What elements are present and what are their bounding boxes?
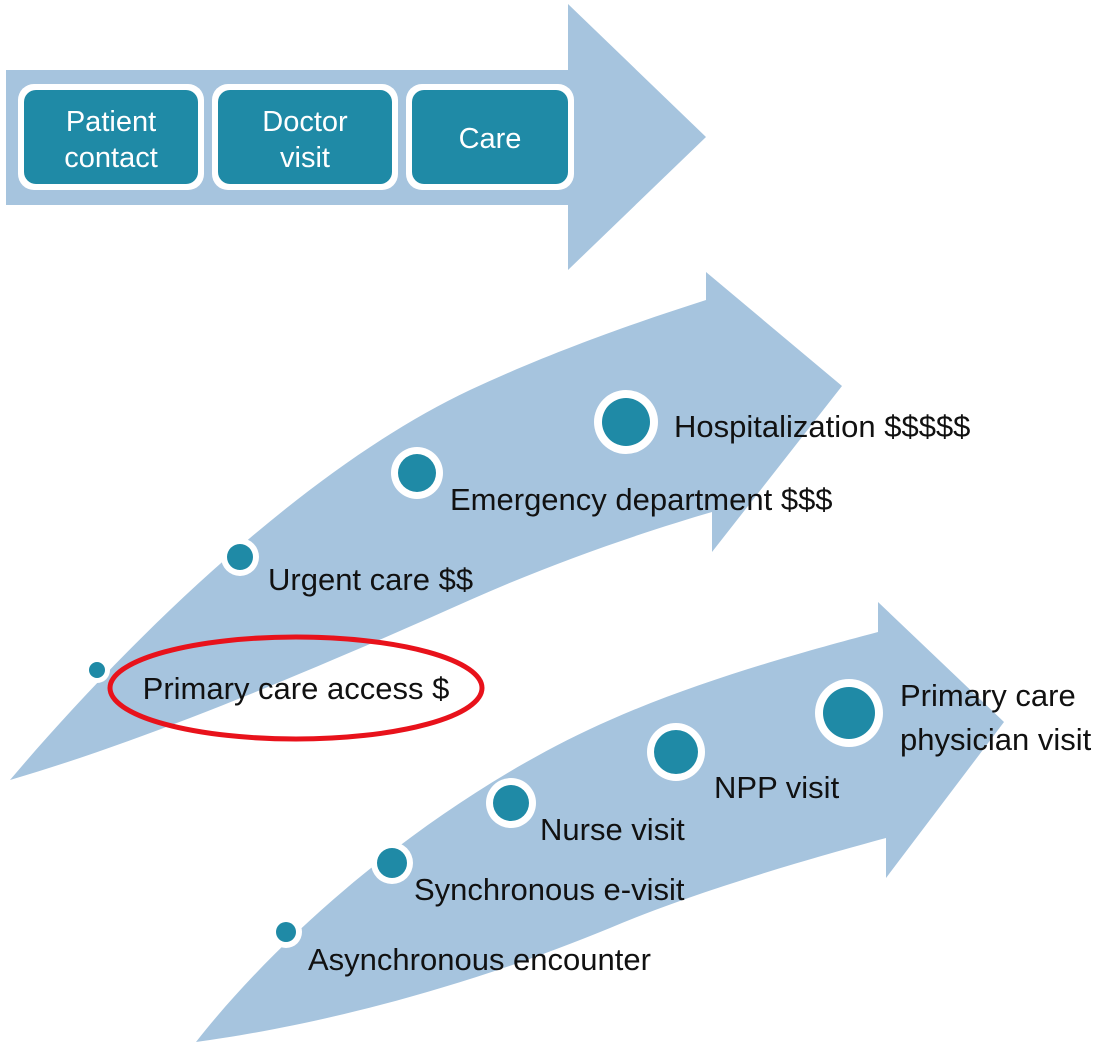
node-synchronous-e-visit[interactable] [371, 842, 413, 884]
node-label-synchronous-e-visit: Synchronous e-visit [414, 872, 685, 907]
node-primary-care-physician-visit[interactable] [815, 679, 883, 747]
node-emergency-department[interactable] [391, 447, 443, 499]
step-box-label-line2: contact [64, 142, 158, 174]
step-box-label-line2: visit [280, 142, 330, 174]
node-label-primary-care-physician-visit-line2: physician visit [900, 722, 1092, 757]
node-label-nurse-visit: Nurse visit [540, 812, 685, 847]
diagram-svg: Patient contact Doctor visit Care [0, 0, 1096, 1046]
node-label-primary-care-access: Primary care access $ [143, 671, 450, 706]
step-box-label-line1: Care [459, 123, 522, 155]
step-box-label-line1: Doctor [262, 106, 348, 138]
step-box-doctor-visit[interactable]: Doctor visit [212, 84, 398, 190]
node-label-primary-care-physician-visit-line1: Primary care [900, 678, 1076, 713]
node-hospitalization[interactable] [594, 390, 658, 454]
node-dot [493, 785, 529, 821]
primary-care-modality-arrow-group: Asynchronous encounter Synchronous e-vis… [196, 602, 1092, 1042]
step-box-label-line1: Patient [66, 106, 156, 138]
node-dot [377, 848, 407, 878]
node-dot [89, 662, 105, 678]
node-dot [276, 922, 296, 942]
node-npp-visit[interactable] [647, 723, 705, 781]
care-pathway-arrow-group: Patient contact Doctor visit Care [6, 4, 706, 270]
node-asynchronous-encounter[interactable] [270, 916, 302, 948]
diagram-canvas: Patient contact Doctor visit Care [0, 0, 1096, 1046]
node-dot [602, 398, 650, 446]
node-label-npp-visit: NPP visit [714, 770, 840, 805]
node-dot [398, 454, 436, 492]
node-primary-care-access[interactable] [84, 657, 110, 683]
step-box-care[interactable]: Care [406, 84, 574, 190]
node-label-urgent-care: Urgent care $$ [268, 562, 473, 597]
node-dot [654, 730, 698, 774]
node-dot [227, 544, 253, 570]
node-dot [823, 687, 875, 739]
node-urgent-care[interactable] [221, 538, 259, 576]
node-label-asynchronous-encounter: Asynchronous encounter [308, 942, 651, 977]
node-label-emergency-department: Emergency department $$$ [450, 482, 833, 517]
step-box-patient-contact[interactable]: Patient contact [18, 84, 204, 190]
node-label-hospitalization: Hospitalization $$$$$ [674, 409, 970, 444]
node-nurse-visit[interactable] [486, 778, 536, 828]
